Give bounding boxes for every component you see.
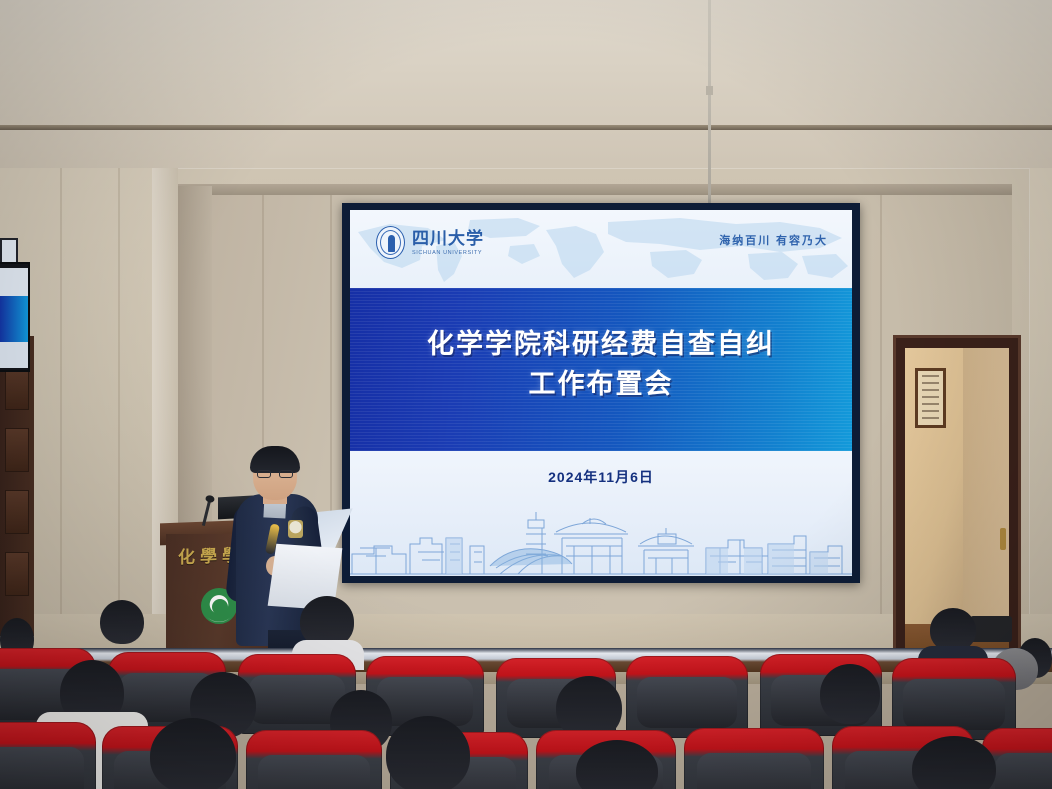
slide-date: 2024年11月6日 (350, 467, 852, 487)
audience-head (820, 664, 880, 724)
conference-room-photo: 四川大学 SICHUAN UNIVERSITY 海纳百川 有容乃大 化学学院科研… (0, 0, 1052, 789)
audience-head (386, 716, 470, 789)
wall-panel-seam (60, 168, 62, 668)
slide-title-band: 化学学院科研经费自查自纠 工作布置会 (350, 288, 852, 451)
left-wood-cabinet (0, 336, 34, 636)
sichuan-university-seal-icon (376, 226, 405, 259)
slide-title-line2: 工作布置会 (350, 364, 852, 404)
equipment-bag (970, 616, 1012, 642)
wall-panel-seam (118, 168, 120, 668)
chengdu-skyline-lineart-icon (350, 504, 852, 576)
calligraphy-scroll-icon (915, 368, 946, 428)
alcove-panel-seam (880, 195, 882, 620)
audience-head (100, 600, 144, 644)
seat[interactable] (246, 730, 382, 789)
logo-name-cn: 四川大学 (412, 230, 484, 247)
upper-wall (0, 0, 1052, 172)
seat[interactable] (0, 722, 96, 789)
door-handle-icon[interactable] (1000, 528, 1006, 550)
jacket-badge (288, 520, 303, 538)
slide-header: 四川大学 SICHUAN UNIVERSITY 海纳百川 有容乃大 (350, 210, 852, 288)
projection-screen[interactable]: 四川大学 SICHUAN UNIVERSITY 海纳百川 有容乃大 化学学院科研… (350, 210, 852, 576)
seat[interactable] (626, 656, 748, 738)
university-motto: 海纳百川 有容乃大 (719, 232, 828, 248)
doorway-inner-wall (963, 348, 1009, 624)
auxiliary-display (0, 262, 30, 372)
audience-head (150, 718, 236, 789)
alcove-top-lip (176, 184, 1012, 195)
slide-title-line1: 化学学院科研经费自查自纠 (350, 324, 852, 364)
seat[interactable] (684, 728, 824, 789)
slide-footer: 2024年11月6日 (350, 451, 852, 576)
logo-name-en: SICHUAN UNIVERSITY (412, 250, 484, 256)
university-logo: 四川大学 SICHUAN UNIVERSITY (376, 226, 484, 259)
eyeglasses-icon (257, 470, 293, 478)
slide-title: 化学学院科研经费自查自纠 工作布置会 (350, 324, 852, 404)
cable-clip (706, 86, 713, 95)
